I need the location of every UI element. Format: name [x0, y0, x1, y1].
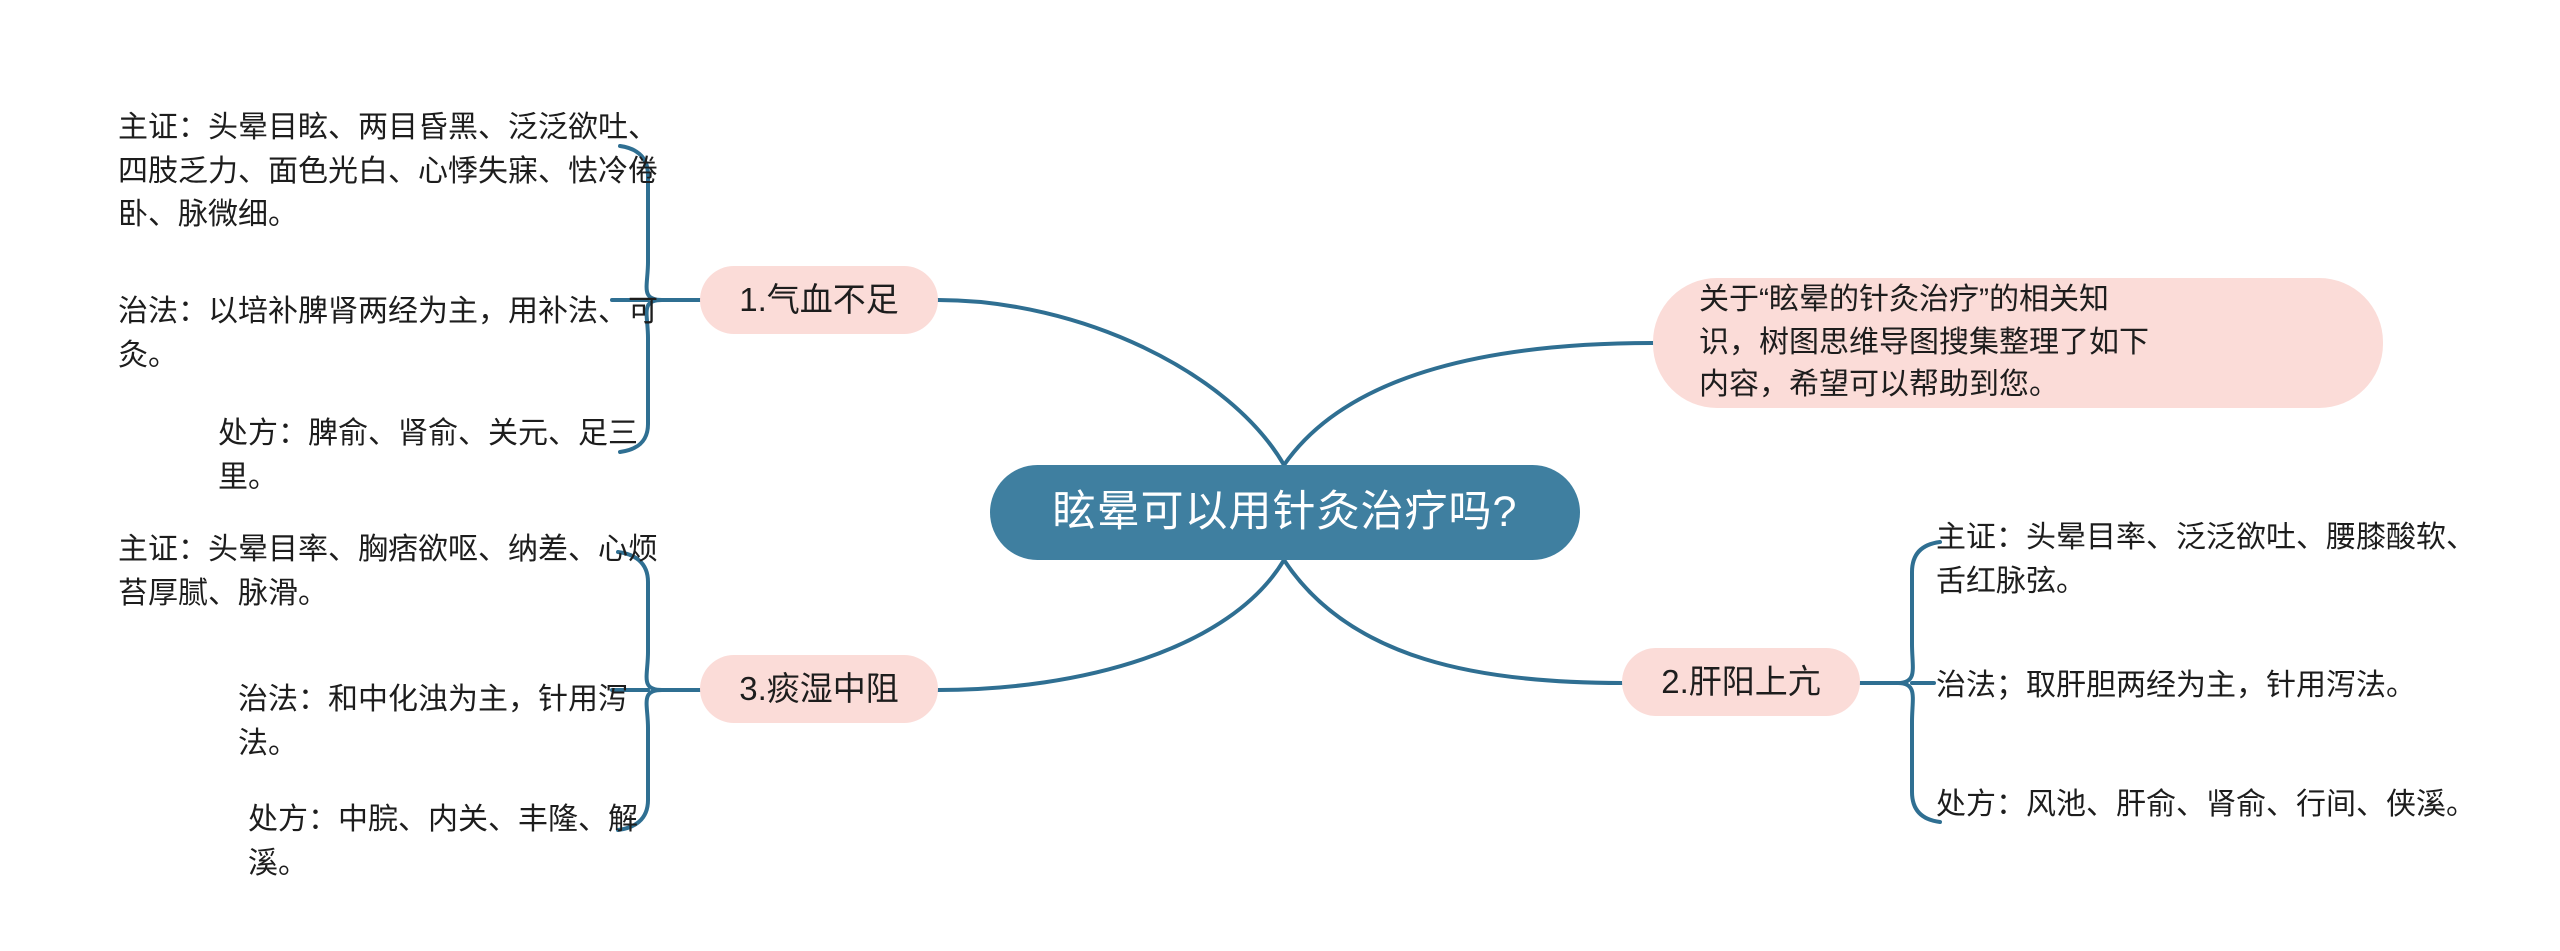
trunk-root-to-branch1 [938, 300, 1284, 465]
brace-branch2-curve [1898, 542, 1940, 822]
root-label: 眩晕可以用针灸治疗吗? [1053, 489, 1518, 536]
branch-node-1[interactable]: 1.气血不足 [700, 266, 938, 334]
branch-2-leaf-zhifa[interactable]: 治法；取肝胆两经为主，针用泻法。 [1936, 664, 2476, 708]
intro-line-3: 内容，希望可以帮助到您。 [1699, 364, 2149, 407]
branch-1-leaf-zhifa[interactable]: 治法：以培补脾肾两经为主，用补法、可灸。 [118, 290, 678, 377]
branch-node-2[interactable]: 2.肝阳上亢 [1622, 648, 1860, 716]
branch-label-2: 2.肝阳上亢 [1661, 663, 1821, 701]
branch-1-leaf-chufang[interactable]: 处方：脾俞、肾俞、关元、足三里。 [218, 412, 678, 499]
branch-label-1: 1.气血不足 [739, 281, 899, 319]
intro-bubble-text: 关于“眩晕的针灸治疗”的相关知 识，树图思维导图搜集整理了如下 内容，希望可以帮… [1699, 279, 2149, 407]
intro-line-1: 关于“眩晕的针灸治疗”的相关知 [1699, 279, 2149, 322]
intro-line-2: 识，树图思维导图搜集整理了如下 [1699, 322, 2149, 365]
intro-bubble[interactable]: 关于“眩晕的针灸治疗”的相关知 识，树图思维导图搜集整理了如下 内容，希望可以帮… [1653, 278, 2383, 408]
trunk-root-to-intro [1284, 343, 1653, 465]
branch-3-leaf-zhifa[interactable]: 治法：和中化浊为主，针用泻法。 [238, 678, 678, 765]
trunk-root-to-branch3 [938, 560, 1284, 690]
mindmap-canvas: 眩晕可以用针灸治疗吗? 关于“眩晕的针灸治疗”的相关知 识，树图思维导图搜集整理… [0, 0, 2560, 951]
branch-1-leaf-zhuzheng[interactable]: 主证：头晕目眩、两目昏黑、泛泛欲吐、四肢乏力、面色光白、心悸失寐、怯冷倦卧、脉微… [118, 106, 678, 237]
branch-3-leaf-chufang[interactable]: 处方：中脘、内关、丰隆、解溪。 [248, 798, 678, 885]
trunk-root-to-branch2 [1284, 560, 1622, 683]
branch-3-leaf-zhuzheng[interactable]: 主证：头晕目率、胸痞欲呕、纳差、心烦苔厚腻、脉滑。 [118, 528, 678, 615]
branch-label-3: 3.痰湿中阻 [739, 670, 899, 708]
branch-2-leaf-zhuzheng[interactable]: 主证：头晕目率、泛泛欲吐、腰膝酸软、舌红脉弦。 [1936, 516, 2476, 603]
root-node[interactable]: 眩晕可以用针灸治疗吗? [990, 465, 1580, 560]
branch-node-3[interactable]: 3.痰湿中阻 [700, 655, 938, 723]
branch-2-leaf-chufang[interactable]: 处方：风池、肝俞、肾俞、行间、侠溪。 [1936, 783, 2476, 827]
